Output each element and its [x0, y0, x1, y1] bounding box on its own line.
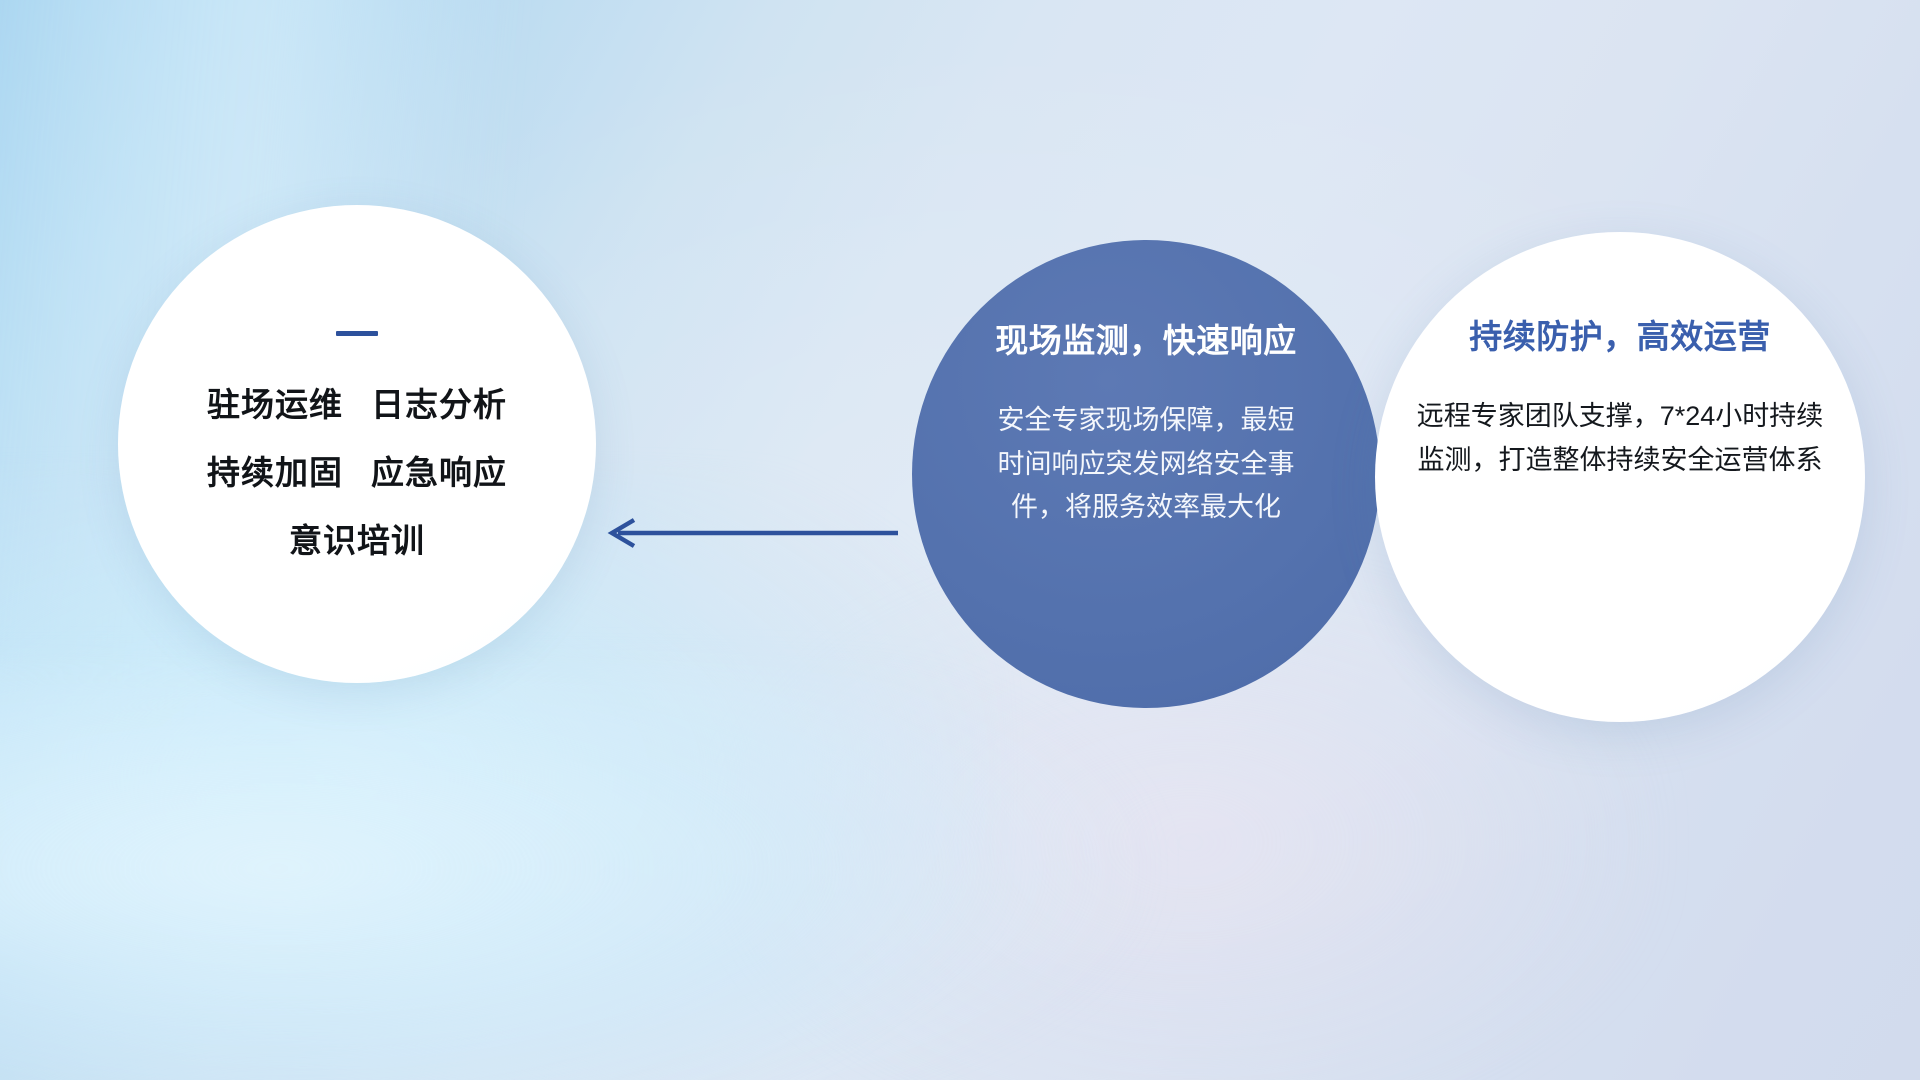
middle-circle-body: 安全专家现场保障，最短时间响应突发网络安全事件，将服务效率最大化: [986, 399, 1306, 530]
capability-label: 意识培训: [289, 522, 425, 559]
capability-row: 持续加固应急响应: [207, 456, 507, 489]
diagram-stage: 驻场运维日志分析 持续加固应急响应 意识培训 现场监测，快速响应 安全专家现场保…: [0, 0, 1920, 1080]
right-circle-card: 持续防护，高效运营 远程专家团队支撑，7*24小时持续监测，打造整体持续安全运营…: [1375, 232, 1865, 722]
capability-label: 应急响应: [371, 454, 507, 491]
capability-label: 驻场运维: [207, 386, 343, 423]
middle-circle-card: 现场监测，快速响应 安全专家现场保障，最短时间响应突发网络安全事件，将服务效率最…: [912, 240, 1380, 708]
capability-row: 驻场运维日志分析: [207, 388, 507, 421]
horizontal-dash-icon: [336, 331, 378, 336]
middle-circle-title: 现场监测，快速响应: [995, 324, 1297, 357]
capability-row: 意识培训: [289, 524, 425, 557]
arrow-left-icon: [600, 516, 900, 550]
capability-label: 日志分析: [371, 386, 507, 423]
right-circle-title: 持续防护，高效运营: [1469, 320, 1771, 353]
left-circle-card: 驻场运维日志分析 持续加固应急响应 意识培训: [118, 205, 596, 683]
capability-label: 持续加固: [207, 454, 343, 491]
right-circle-body: 远程专家团队支撑，7*24小时持续监测，打造整体持续安全运营体系: [1410, 395, 1830, 482]
